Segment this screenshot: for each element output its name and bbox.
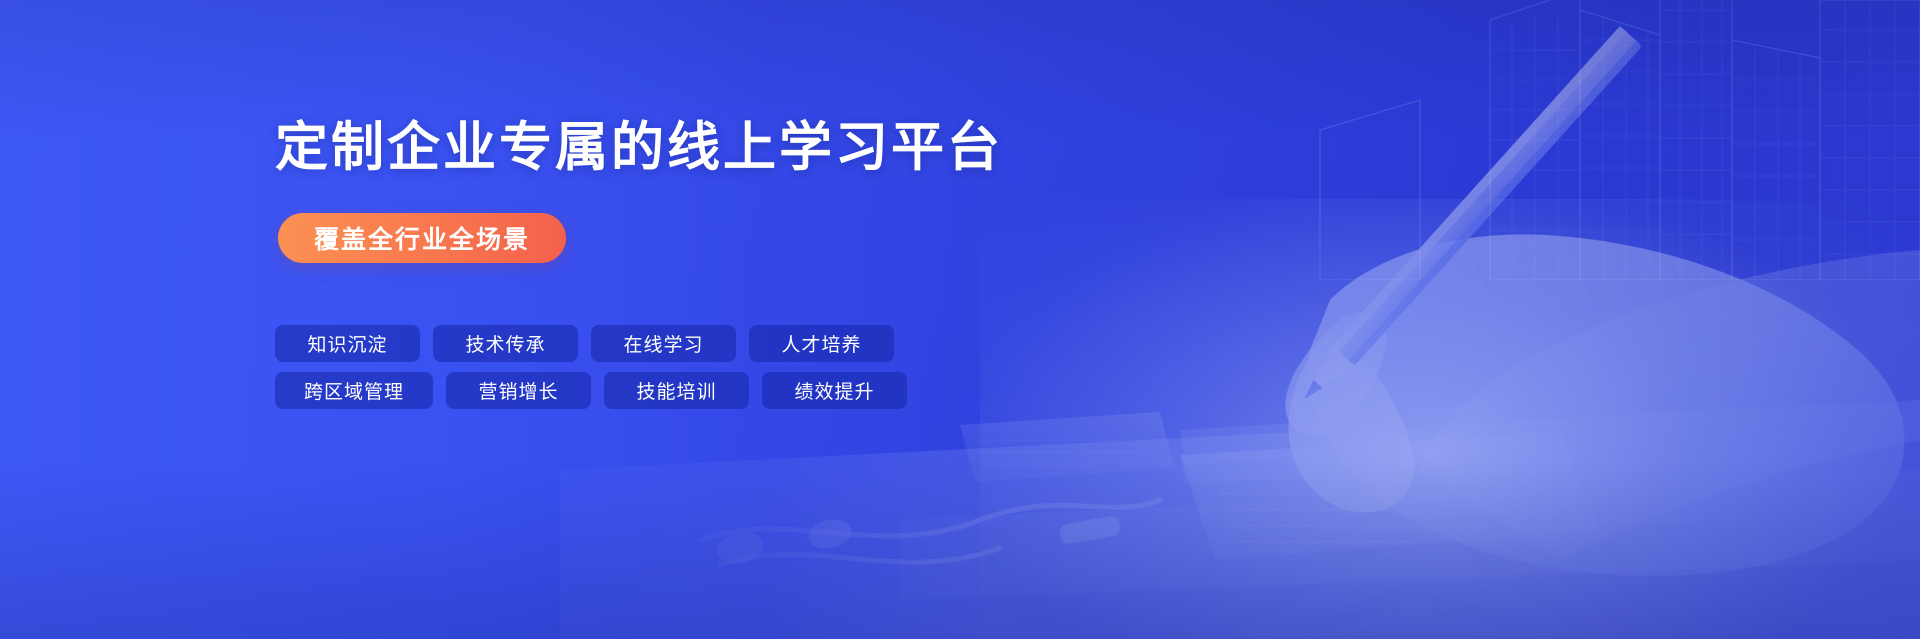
feature-tag-knowledge-precipitation[interactable]: 知识沉淀 <box>275 325 420 362</box>
feature-tag-skills-training[interactable]: 技能培训 <box>604 372 749 409</box>
feature-tag-performance-improvement[interactable]: 绩效提升 <box>762 372 907 409</box>
coverage-badge-button[interactable]: 覆盖全行业全场景 <box>278 213 566 263</box>
banner-title: 定制企业专属的线上学习平台 <box>275 118 1003 179</box>
hero-banner: 定制企业专属的线上学习平台 覆盖全行业全场景 知识沉淀 技术传承 在线学习 人才… <box>0 0 1920 639</box>
feature-tag-row-1: 知识沉淀 技术传承 在线学习 人才培养 <box>275 325 907 362</box>
feature-tag-list: 知识沉淀 技术传承 在线学习 人才培养 跨区域管理 营销增长 技能培训 绩效提升 <box>275 325 907 409</box>
feature-tag-talent-development[interactable]: 人才培养 <box>749 325 894 362</box>
feature-tag-online-learning[interactable]: 在线学习 <box>591 325 736 362</box>
feature-tag-row-2: 跨区域管理 营销增长 技能培训 绩效提升 <box>275 372 907 409</box>
banner-content: 定制企业专属的线上学习平台 覆盖全行业全场景 知识沉淀 技术传承 在线学习 人才… <box>275 0 1375 639</box>
feature-tag-marketing-growth[interactable]: 营销增长 <box>446 372 591 409</box>
feature-tag-cross-region-management[interactable]: 跨区域管理 <box>275 372 433 409</box>
feature-tag-technical-inheritance[interactable]: 技术传承 <box>433 325 578 362</box>
